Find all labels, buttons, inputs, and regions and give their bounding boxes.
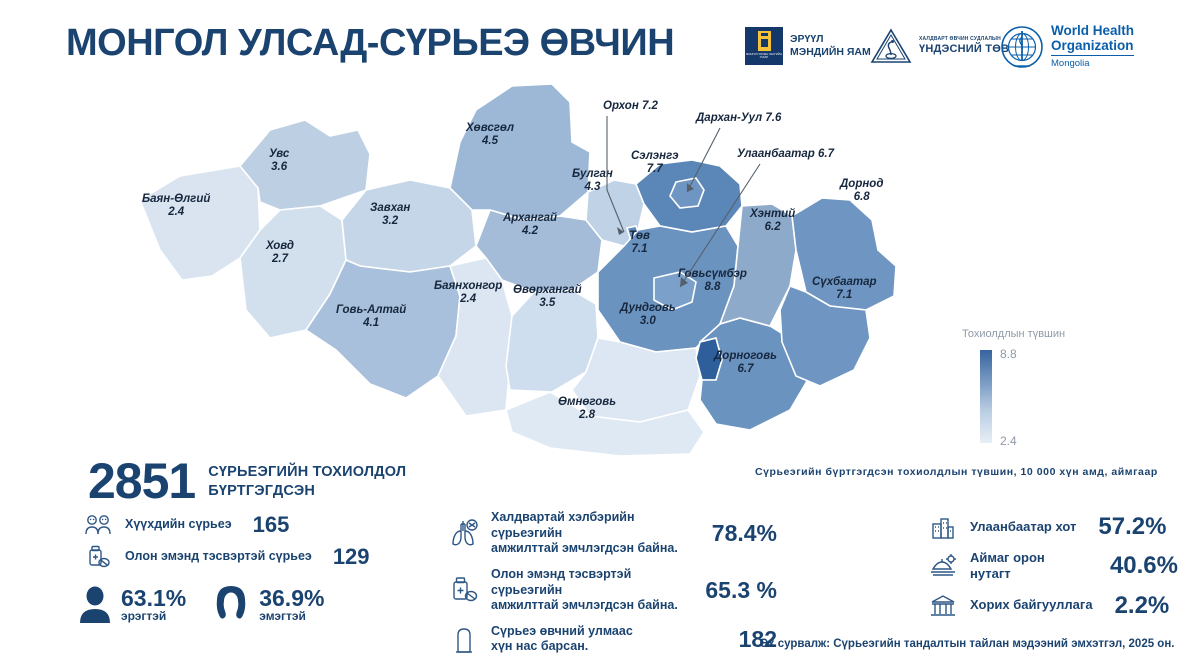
stat-value: 129: [333, 544, 370, 570]
tombstone-icon: [447, 624, 481, 654]
stats-column-left: Хүүхдийн сүрьеэ 165 Олон эмэнд тэсвэртэй…: [82, 512, 422, 576]
headline-text: СҮРЬЕЭГИЙН ТОХИОЛДОЛ БҮРТГЭГДСЭН: [208, 458, 406, 501]
children-icon: [82, 513, 114, 537]
moh-label: ЭРҮҮЛ МЭНДИЙН ЯАМ: [790, 33, 871, 59]
stat-row-rural-provinces: Аймаг орон нутагт 40.6%: [928, 550, 1178, 583]
map-svg: [120, 80, 920, 460]
headline-block: 2851 СҮРЬЕЭГИЙН ТОХИОЛДОЛ БҮРТГЭГДСЭН: [88, 458, 406, 506]
stat-label: Хүүхдийн сүрьеэ: [125, 517, 232, 533]
stat-row-mdr-success: Олон эмэнд тэсвэртэй сүрьеэгийн амжилтта…: [447, 567, 777, 614]
gender-breakdown: 63.1% эрэгтэй 36.9% эмэгтэй: [78, 585, 324, 623]
source-note: Эх сурвалж: Сүрьеэгийн тандалтын тайлан …: [760, 638, 1174, 650]
stat-row-child-tb: Хүүхдийн сүрьеэ 165: [82, 512, 422, 538]
logo-ministry-of-health: МОНГОЛ УЛСЫН ЗАСГИЙН ГАЗАР ЭРҮҮЛ МЭНДИЙН…: [745, 27, 871, 65]
stats-column-middle: Халдвартай хэлбэрийн сүрьеэгийн амжилтта…: [447, 510, 777, 665]
stat-value: 65.3 %: [705, 577, 777, 604]
who-label: World Health Organization Mongolia: [1051, 24, 1134, 69]
callout-orkhon: Орхон 7.2: [603, 100, 658, 112]
legend-max-value: 8.8: [1000, 347, 1017, 361]
province-khovsgol[interactable]: [450, 84, 590, 220]
legend-gradient-bar: [980, 350, 992, 443]
legend-title: Тохиолдлын түвшин: [962, 328, 1065, 340]
stat-value: 78.4%: [712, 520, 777, 547]
legend-body: 8.8 2.4: [980, 350, 1065, 443]
moh-emblem-text: МОНГОЛ УЛСЫН ЗАСГИЙН ГАЗАР: [745, 53, 783, 60]
page-title: МОНГОЛ УЛСАД-СҮРЬЕЭ ӨВЧИН: [66, 22, 674, 65]
callout-ulaanbaatar: Улаанбаатар 6.7: [737, 148, 834, 160]
stat-value: 165: [253, 512, 290, 538]
medicine-bottle-icon: [447, 575, 481, 605]
prison-icon: [928, 593, 958, 619]
map-note: Сүрьеэгийн бүртгэгдсэн тохиолдлын түвшин…: [755, 466, 1158, 478]
stats-column-right: Улаанбаатар хот 57.2% Аймаг орон нутагт …: [928, 513, 1178, 629]
legend-min-value: 2.4: [1000, 434, 1017, 448]
stat-row-infectious-success: Халдвартай хэлбэрийн сүрьеэгийн амжилтта…: [447, 510, 777, 557]
stat-label: Улаанбаатар хот: [970, 519, 1076, 535]
stat-label: Сүрьеэ өвчний улмаас хүн нас барсан.: [491, 624, 723, 655]
stat-value: 57.2%: [1098, 513, 1166, 541]
stat-label: Олон эмэнд тэсвэртэй сүрьеэгийн амжилтта…: [491, 567, 689, 614]
map-legend: Тохиолдлын түвшин 8.8 2.4: [962, 328, 1065, 443]
countryside-icon: [928, 553, 958, 579]
stat-label: Олон эмэнд тэсвэртэй сүрьеэ: [125, 549, 312, 565]
stat-row-prison: Хорих байгууллага 2.2%: [928, 592, 1178, 620]
stat-value: 2.2%: [1115, 592, 1170, 620]
lungs-icon: [447, 518, 481, 548]
nccd-triangle-snake-icon: [870, 27, 912, 65]
stat-row-ulaanbaatar-city: Улаанбаатар хот 57.2%: [928, 513, 1178, 541]
gender-female: 36.9% эмэгтэй: [212, 585, 324, 623]
callout-darkhan-uul: Дархан-Уул 7.6: [696, 112, 781, 124]
city-icon: [928, 514, 958, 540]
medicine-bottle-icon: [82, 544, 114, 570]
nccd-label: ХАЛДВАРТ ӨВЧИН СУДЛАЛЫН ҮНДЭСНИЙ ТӨВ: [919, 37, 1009, 55]
gender-male: 63.1% эрэгтэй: [78, 585, 186, 623]
stat-label: Аймаг орон нутагт: [970, 550, 1088, 583]
stat-value: 40.6%: [1110, 552, 1178, 580]
stat-row-mdr-tb: Олон эмэнд тэсвэртэй сүрьеэ 129: [82, 544, 422, 570]
gender-female-text: 36.9% эмэгтэй: [259, 586, 324, 623]
who-emblem-icon: [1000, 25, 1044, 69]
logo-nccd: ХАЛДВАРТ ӨВЧИН СУДЛАЛЫН ҮНДЭСНИЙ ТӨВ: [870, 27, 1009, 65]
mongolia-state-emblem-icon: МОНГОЛ УЛСЫН ЗАСГИЙН ГАЗАР: [745, 27, 783, 65]
headline-number: 2851: [88, 458, 195, 506]
gender-male-text: 63.1% эрэгтэй: [121, 586, 186, 623]
logo-who: World Health Organization Mongolia: [1000, 24, 1134, 69]
mongolia-choropleth-map: Баян-Өлгий 2.4 Увс 3.6 Ховд 2.7 Завхан 3…: [120, 80, 920, 460]
stat-label: Халдвартай хэлбэрийн сүрьеэгийн амжилтта…: [491, 510, 696, 557]
male-icon: [78, 585, 112, 623]
female-icon: [212, 585, 250, 623]
stat-label: Хорих байгууллага: [970, 597, 1093, 613]
province-uvs[interactable]: [240, 120, 370, 210]
stat-row-deaths: Сүрьеэ өвчний улмаас хүн нас барсан. 182: [447, 624, 777, 655]
